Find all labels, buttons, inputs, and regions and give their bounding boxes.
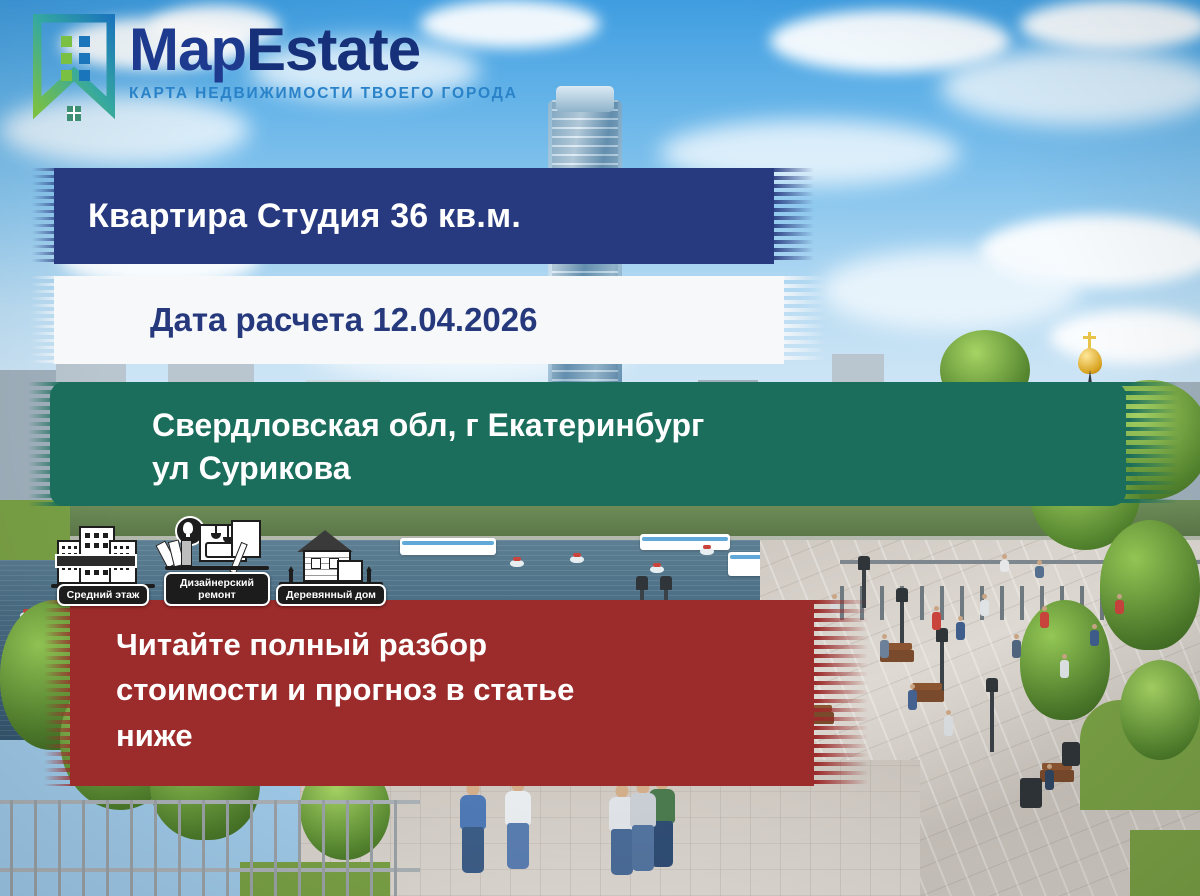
property-title: Квартира Студия 36 кв.м. [88, 197, 521, 236]
pedestrian [1090, 630, 1099, 646]
mid-floor-highlight [55, 554, 137, 568]
pedal-boat [570, 556, 584, 563]
badge-mid-floor[interactable]: Средний этаж [48, 528, 158, 606]
cta-line-1: Читайте полный разбор [116, 622, 574, 667]
river-boat [640, 534, 730, 550]
brand-name: MapEstate [129, 20, 518, 80]
pedestrian [1035, 566, 1044, 578]
calculation-date-banner: Дата расчета 12.04.2026 [40, 276, 810, 364]
promo-poster: MapEstate КАРТА НЕДВИЖИМОСТИ ТВОЕГО ГОРО… [0, 0, 1200, 896]
trash-can [1020, 778, 1042, 808]
pedestrian [1045, 770, 1054, 790]
brand-name-map: Map [129, 16, 246, 83]
bookmark-building-icon [33, 14, 115, 126]
property-banner: Квартира Студия 36 кв.м. [40, 168, 800, 264]
calculation-date-text: Дата расчета 12.04.2026 [150, 301, 537, 339]
river-boat [400, 538, 496, 555]
cta-line-3: ниже [116, 713, 574, 758]
badge-wooden-house[interactable]: Деревянный дом [276, 528, 386, 606]
lawn [1130, 830, 1200, 896]
address-line-region: Свердловская обл, г Екатеринбург [152, 404, 704, 447]
brand-tagline: КАРТА НЕДВИЖИМОСТИ ТВОЕГО ГОРОДА [129, 85, 518, 103]
tree [1100, 520, 1200, 650]
brand-name-estate: Estate [246, 16, 420, 83]
interior-design-icon [165, 516, 269, 578]
address-text: Свердловская обл, г Екатеринбург ул Сури… [152, 404, 704, 490]
pedestrian [908, 690, 917, 710]
cloud [1020, 0, 1200, 50]
pedestrian [1012, 640, 1021, 658]
address-banner: Свердловская обл, г Екатеринбург ул Сури… [40, 382, 1160, 506]
pedestrian [1115, 600, 1124, 614]
pedestrian [1060, 660, 1069, 678]
street-lamp [990, 690, 994, 752]
pedal-boat [650, 566, 664, 573]
cta-banner: Читайте полный разбор стоимости и прогно… [58, 600, 848, 786]
pedal-boat [700, 548, 714, 555]
address-line-street: ул Сурикова [152, 447, 704, 490]
pedestrian [455, 782, 491, 882]
feature-badges: Средний этаж Дизайнерский ремонт [48, 516, 386, 606]
cta-line-2: стоимости и прогноз в статье [116, 667, 574, 712]
cta-text: Читайте полный разбор стоимости и прогно… [116, 622, 574, 758]
brand-logo[interactable]: MapEstate КАРТА НЕДВИЖИМОСТИ ТВОЕГО ГОРО… [33, 14, 518, 126]
pedestrian [944, 716, 953, 736]
pedestrian [1040, 612, 1049, 628]
badge-designer-renovation[interactable]: Дизайнерский ремонт [162, 516, 272, 606]
apartment-building-icon [51, 528, 155, 590]
pedestrian [880, 640, 889, 658]
badge-label: Дизайнерский ремонт [164, 572, 270, 606]
street-lamp [900, 600, 904, 646]
brand-text: MapEstate КАРТА НЕДВИЖИМОСТИ ТВОЕГО ГОРО… [129, 20, 518, 103]
pedal-boat [510, 560, 524, 567]
pedestrian [628, 780, 658, 880]
pedestrian [980, 600, 989, 616]
badge-label: Средний этаж [57, 584, 150, 606]
badge-label: Деревянный дом [276, 584, 386, 606]
wooden-house-icon [279, 528, 383, 590]
pedestrian [500, 778, 536, 882]
tree [1120, 660, 1200, 760]
pedestrian [932, 612, 941, 630]
pedestrian [956, 622, 965, 640]
trash-can [1062, 742, 1080, 766]
tower-crown [556, 86, 614, 112]
foreground-fence [0, 790, 420, 896]
pedestrian [1000, 560, 1009, 572]
